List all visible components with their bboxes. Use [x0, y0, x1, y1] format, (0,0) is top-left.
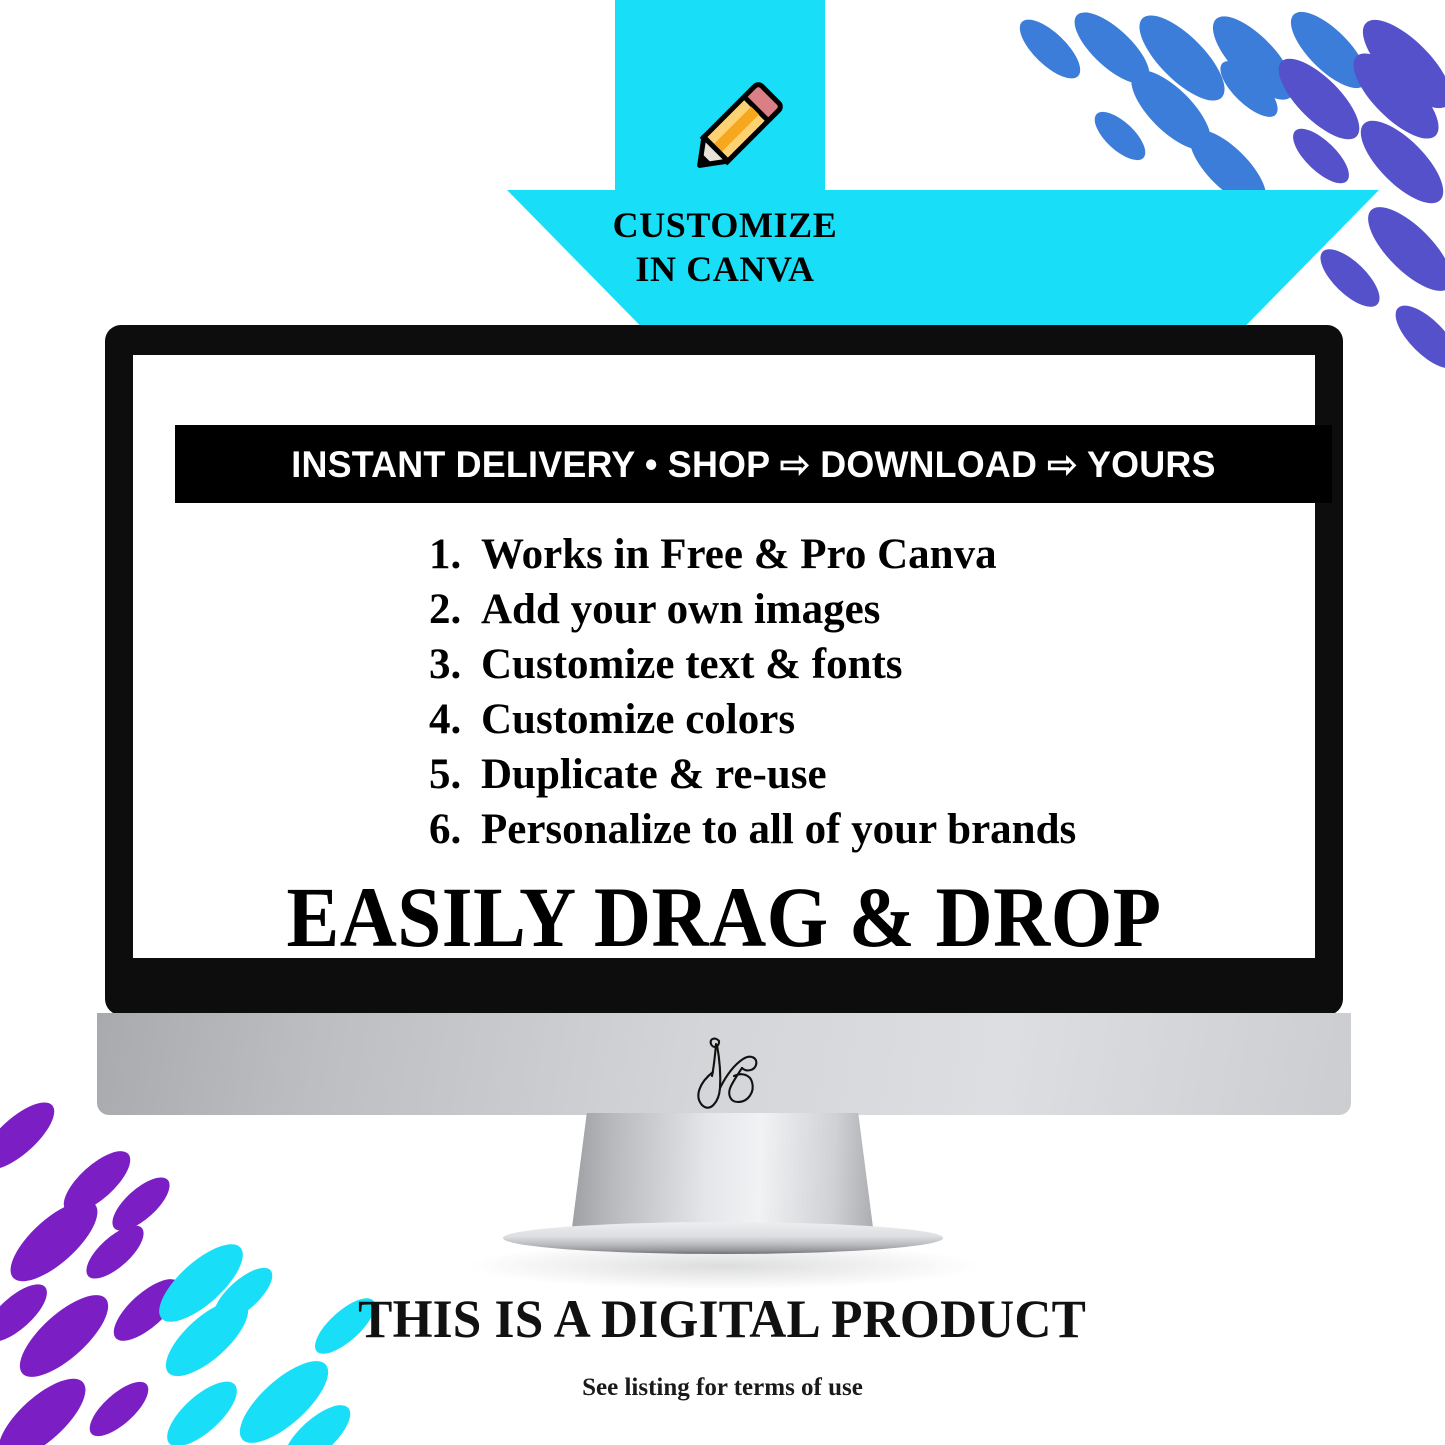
instant-delivery-banner: INSTANT DELIVERY • SHOP ⇨ DOWNLOAD ⇨ YOU…	[175, 425, 1332, 503]
footer: THIS IS A DIGITAL PRODUCT See listing fo…	[0, 1288, 1445, 1402]
list-item: 1. Works in Free & Pro Canva	[133, 527, 1315, 582]
list-item-number: 6.	[429, 802, 481, 857]
arrow-label-line1: CUSTOMIZE	[507, 203, 943, 247]
list-item-number: 4.	[429, 692, 481, 747]
list-item-label: Customize colors	[481, 692, 795, 747]
list-item: 4. Customize colors	[133, 692, 1315, 747]
arrow-label-line2: IN CANVA	[507, 247, 943, 291]
list-item: 2. Add your own images	[133, 582, 1315, 637]
headline: EASILY DRAG & DROP	[180, 867, 1267, 967]
list-item-number: 1.	[429, 527, 481, 582]
pencil-icon	[678, 74, 793, 186]
decorative-dash	[0, 1092, 64, 1180]
poster-canvas: CUSTOMIZE IN CANVA INSTANT DELIVERY • SH…	[0, 0, 1445, 1445]
feature-list: 1. Works in Free & Pro Canva 2. Add your…	[133, 527, 1315, 857]
footer-title-wrap: THIS IS A DIGITAL PRODUCT	[0, 1288, 1445, 1350]
arrow-label: CUSTOMIZE IN CANVA	[507, 203, 943, 292]
list-item: 5. Duplicate & re-use	[133, 747, 1315, 802]
monitor-shadow	[470, 1243, 975, 1289]
footer-subtitle: See listing for terms of use	[0, 1374, 1445, 1402]
instant-delivery-banner-text: INSTANT DELIVERY • SHOP ⇨ DOWNLOAD ⇨ YOU…	[291, 443, 1215, 486]
monitor-screen: INSTANT DELIVERY • SHOP ⇨ DOWNLOAD ⇨ YOU…	[133, 355, 1315, 958]
js-monogram-logo	[672, 1032, 782, 1118]
list-item-number: 5.	[429, 747, 481, 802]
list-item: 3. Customize text & fonts	[133, 637, 1315, 692]
list-item-label: Customize text & fonts	[481, 637, 903, 692]
list-item-label: Personalize to all of your brands	[481, 802, 1076, 857]
list-item-label: Works in Free & Pro Canva	[481, 527, 997, 582]
list-item-label: Duplicate & re-use	[481, 747, 827, 802]
list-item: 6. Personalize to all of your brands	[133, 802, 1315, 857]
imac-monitor: INSTANT DELIVERY • SHOP ⇨ DOWNLOAD ⇨ YOU…	[105, 325, 1343, 1015]
footer-title: THIS IS A DIGITAL PRODUCT	[359, 1288, 1087, 1350]
list-item-number: 3.	[429, 637, 481, 692]
list-item-label: Add your own images	[481, 582, 880, 637]
list-item-number: 2.	[429, 582, 481, 637]
